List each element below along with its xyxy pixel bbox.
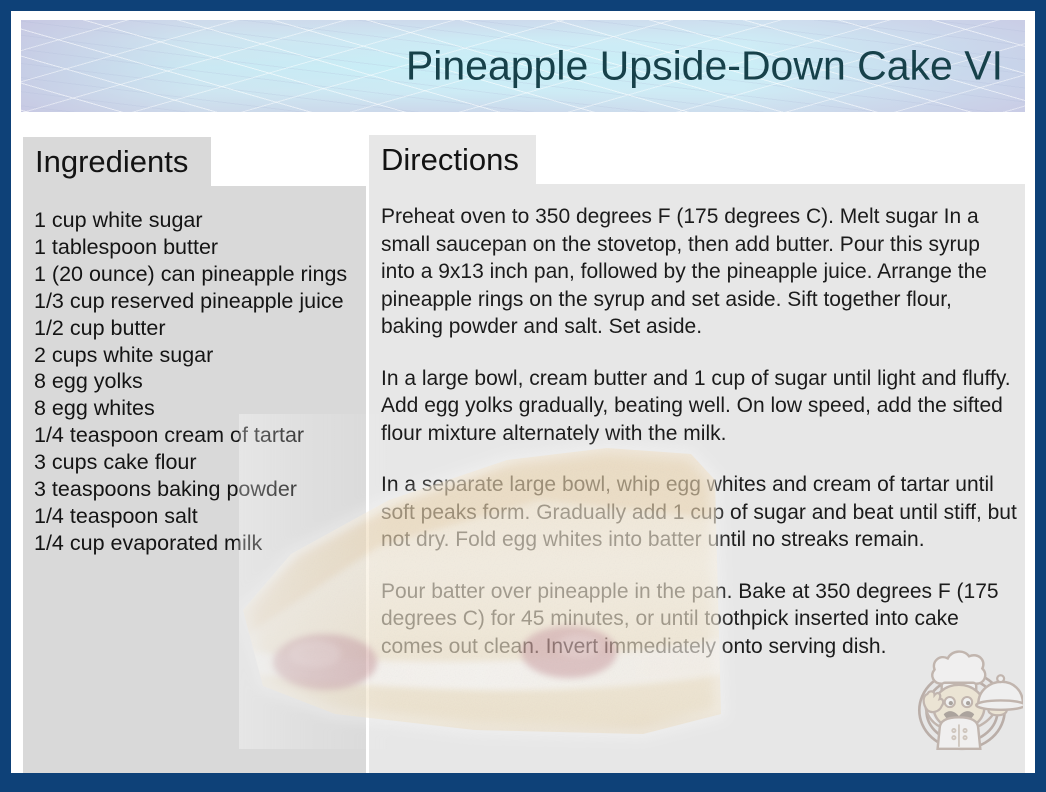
direction-paragraph: Preheat oven to 350 degrees F (175 degre… (381, 203, 1017, 341)
ingredients-list: 1 cup white sugar1 tablespoon butter1 (2… (34, 207, 360, 557)
directions-body: Preheat oven to 350 degrees F (175 degre… (381, 203, 1017, 660)
recipe-card: Pineapple Upside-Down Cake VI Ingredient… (0, 0, 1046, 792)
ingredient-item: 1/2 cup butter (34, 315, 360, 342)
ingredient-item: 1/3 cup reserved pineapple juice (34, 288, 360, 315)
tab-directions[interactable]: Directions (369, 135, 536, 184)
page-title: Pineapple Upside-Down Cake VI (406, 43, 1003, 90)
ingredient-item: 3 teaspoons baking powder (34, 476, 360, 503)
recipe-page: Pineapple Upside-Down Cake VI Ingredient… (11, 11, 1035, 773)
ingredient-item: 8 egg yolks (34, 368, 360, 395)
ingredient-item: 1 cup white sugar (34, 207, 360, 234)
ingredients-panel: 1 cup white sugar1 tablespoon butter1 (2… (23, 186, 366, 773)
ingredient-item: 2 cups white sugar (34, 342, 360, 369)
ingredient-item: 3 cups cake flour (34, 449, 360, 476)
ingredient-item: 8 egg whites (34, 395, 360, 422)
chef-logo (901, 637, 1023, 759)
ingredient-item: 1/4 teaspoon salt (34, 503, 360, 530)
direction-paragraph: In a separate large bowl, whip egg white… (381, 471, 1017, 554)
title-banner: Pineapple Upside-Down Cake VI (21, 20, 1025, 112)
tab-directions-label: Directions (381, 142, 519, 177)
ingredient-item: 1/4 cup evaporated milk (34, 530, 360, 557)
ingredient-item: 1/4 teaspoon cream of tartar (34, 422, 360, 449)
tab-ingredients[interactable]: Ingredients (23, 137, 211, 186)
tab-ingredients-label: Ingredients (35, 144, 188, 179)
ingredient-item: 1 (20 ounce) can pineapple rings (34, 261, 360, 288)
ingredient-item: 1 tablespoon butter (34, 234, 360, 261)
direction-paragraph: In a large bowl, cream butter and 1 cup … (381, 365, 1017, 448)
